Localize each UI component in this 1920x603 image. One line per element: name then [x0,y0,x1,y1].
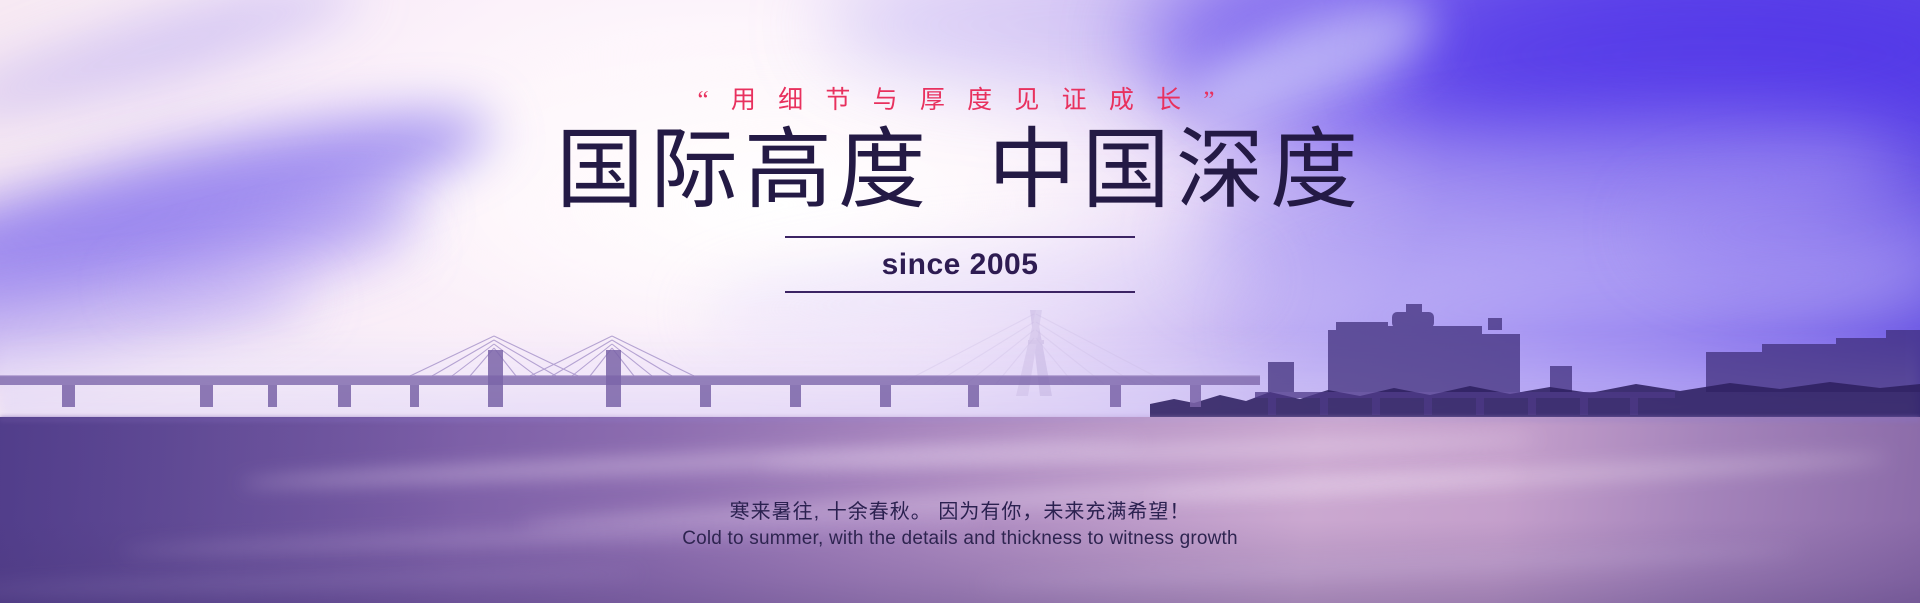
banner-content: “ 用 细 节 与 厚 度 见 证 成 长 ” 国际高度 中国深度 since … [0,0,1920,603]
banner-subtitle-en: Cold to summer, with the details and thi… [0,528,1920,550]
banner-headline: 国际高度 中国深度 [0,120,1920,224]
hero-banner: “ 用 细 节 与 厚 度 见 证 成 长 ” 国际高度 中国深度 since … [0,0,1920,603]
since-block: since 2005 [0,236,1920,293]
banner-tagline: “ 用 细 节 与 厚 度 见 证 成 长 ” [0,80,1920,116]
since-label: since 2005 [882,238,1039,291]
divider-bottom [785,291,1135,293]
banner-subtitle-cn: 寒来暑往, 十余春秋。 因为有你，未来充满希望！ [0,495,1920,524]
